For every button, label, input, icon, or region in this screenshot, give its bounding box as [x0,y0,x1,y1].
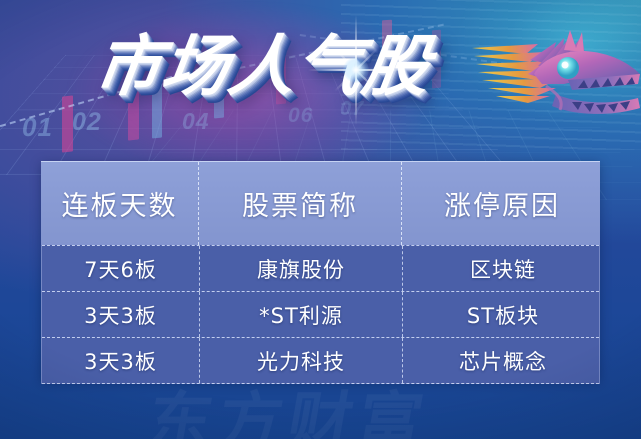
vignette-overlay [0,0,641,439]
poster-stage: 01 02 04 06 07 市场人气股 [0,0,641,439]
